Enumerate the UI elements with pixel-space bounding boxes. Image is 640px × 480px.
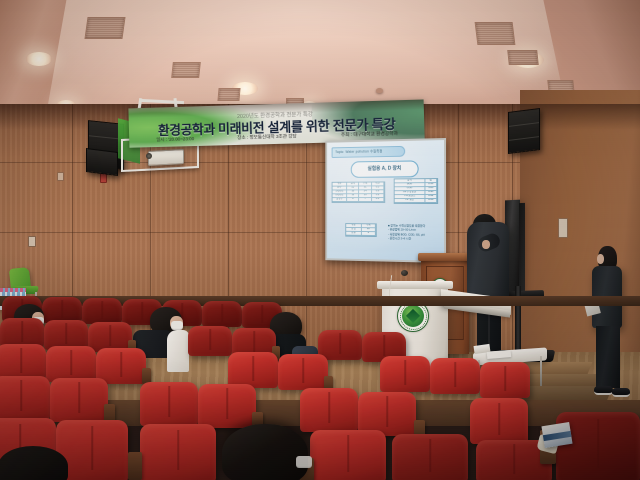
projector-lens-icon: [146, 153, 152, 159]
banner-detail-date: 일시 : '20.00~23:00: [156, 136, 194, 143]
smoke-detector-icon: [376, 88, 383, 93]
slide-table-right: 항목 값 BOD 2.10 COD 1.85 SS 부유물질 0.95 T-N …: [394, 178, 438, 204]
foreground-attendee-head: [0, 446, 68, 480]
bottle-caps: [0, 288, 26, 292]
bag-on-seat[interactable]: [541, 422, 572, 448]
slide-title: 실험용 A, D 장치: [351, 160, 419, 177]
ceiling-vent-icon: [217, 88, 240, 101]
seat[interactable]: [188, 326, 232, 356]
seat[interactable]: [202, 301, 242, 327]
presenter-hand: [482, 240, 490, 249]
seat[interactable]: [0, 376, 50, 420]
seat[interactable]: [380, 356, 430, 392]
ceiling-vent-icon: [475, 22, 516, 45]
seat-armrest: [128, 452, 142, 480]
auditorium-photo: 2020년도 환경공학과 전문가 특강 환경공학과 미래비전 설계를 위한 전문…: [0, 0, 640, 480]
wall-switch-plate[interactable]: [28, 236, 36, 247]
flat-panel-display-back: [519, 203, 525, 291]
seat[interactable]: [278, 354, 328, 390]
podium-top-surface: [418, 253, 472, 261]
face-mask-icon: [171, 321, 183, 330]
ceiling-vent-icon: [507, 50, 539, 65]
foreground-attendee-head: [222, 424, 308, 480]
ceiling-vent-icon: [84, 17, 125, 39]
ceiling-light-icon: [26, 52, 52, 66]
staff-face: [597, 254, 604, 264]
slide-header: Topic: Water pollution 수질측정: [332, 146, 406, 158]
seat[interactable]: [82, 298, 122, 324]
seat[interactable]: [480, 362, 530, 398]
staff-trousers: [596, 326, 620, 388]
seat[interactable]: [310, 430, 386, 480]
banner-detail-place: 장소 : 정보통신대학 3조관 강당: [237, 133, 297, 141]
seat[interactable]: [430, 358, 480, 394]
seat[interactable]: [392, 434, 468, 480]
projection-screen: Topic: Water pollution 수질측정 실험용 A, D 장치 …: [325, 138, 446, 263]
seat[interactable]: [470, 398, 528, 444]
seat[interactable]: [46, 346, 96, 382]
slide-bullet-list: ■ 장치는 수질오염도를 측정한다 - 유량범위 20~50 L/min - 측…: [388, 223, 442, 241]
microphone-icon[interactable]: [401, 270, 408, 276]
table-row: 유출 6: [346, 232, 376, 236]
slide-table-left: 구분 항목 수치 비고 원수 25 31 0.5 1차처리 18 24 0.3: [332, 181, 386, 202]
attendee-sleeve: [167, 330, 189, 372]
loudspeaker-right: [508, 108, 540, 154]
seat[interactable]: [198, 384, 256, 428]
staff-shoe: [594, 386, 613, 395]
table-leg: [540, 356, 542, 386]
ceiling-vent-icon: [171, 62, 201, 78]
seat[interactable]: [50, 378, 108, 422]
slide-surface: Topic: Water pollution 수질측정 실험용 A, D 장치 …: [327, 140, 444, 261]
table-row: 방류수 4 7 0.1: [333, 198, 385, 202]
wall-outlet-plate[interactable]: [57, 172, 64, 181]
list-item: - 운전시간 2~6 시간: [388, 236, 442, 241]
seat[interactable]: [96, 348, 146, 384]
seat[interactable]: [300, 388, 358, 432]
table-row: T-P 총인 0.14: [395, 199, 437, 203]
slide-table-small: 구분 수치 유입 28 유출 6: [345, 223, 376, 237]
projector: [148, 149, 184, 166]
seat[interactable]: [140, 382, 198, 426]
loudspeaker-left-lower: [86, 148, 118, 176]
face-mask-icon: [296, 456, 312, 468]
bag-band: [543, 431, 572, 441]
wall-sign-right: [558, 218, 568, 238]
seat[interactable]: [228, 352, 278, 388]
staff-shoe: [612, 388, 630, 397]
seat[interactable]: [0, 344, 46, 380]
seat[interactable]: [140, 424, 216, 480]
